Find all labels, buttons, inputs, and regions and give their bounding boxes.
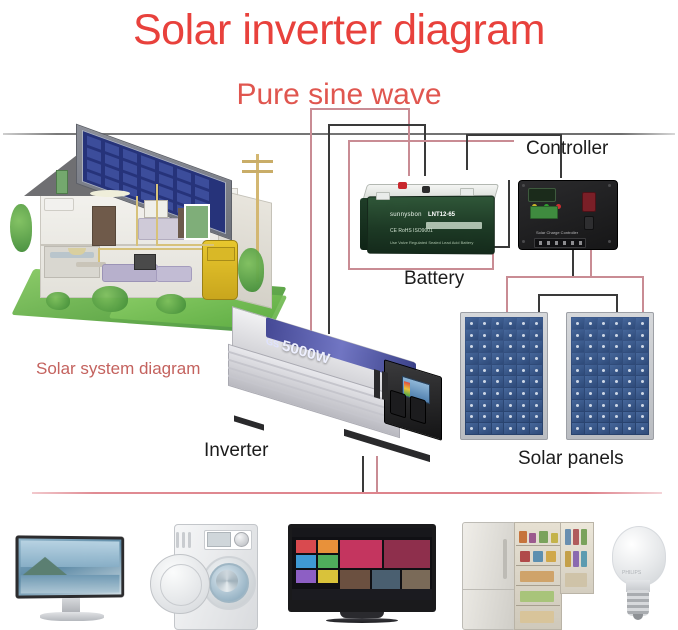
bulb-contact-tip bbox=[633, 614, 643, 620]
wire-batt-ctl-left bbox=[348, 140, 350, 268]
living-room-tv bbox=[134, 254, 156, 270]
tv-stand-base bbox=[326, 618, 398, 623]
label-battery: Battery bbox=[404, 268, 464, 290]
monitor-stand-neck bbox=[62, 598, 80, 612]
interior-door bbox=[92, 206, 116, 246]
fridge-door-split bbox=[463, 589, 515, 590]
washer-program-knob[interactable] bbox=[234, 532, 249, 547]
bottom-divider bbox=[32, 492, 662, 494]
bulb-glass-dome bbox=[612, 526, 666, 586]
page-title: Solar inverter diagram bbox=[0, 6, 678, 54]
controller-aux-port bbox=[584, 216, 594, 230]
wire-pv-bus-neg bbox=[538, 294, 618, 296]
wire-pv1-pos bbox=[506, 276, 508, 314]
ceiling-light bbox=[90, 190, 130, 197]
label-solar-panels: Solar panels bbox=[518, 448, 624, 470]
inverter-ac-socket[interactable] bbox=[390, 390, 406, 419]
gable-window bbox=[56, 170, 68, 194]
wire-inverter-pos-v bbox=[310, 108, 312, 334]
fridge-handle[interactable] bbox=[503, 539, 507, 579]
page-subtitle: Pure sine wave bbox=[0, 78, 678, 112]
appliance-led-bulb: PHILIPS bbox=[608, 522, 668, 628]
tv-menu-bar bbox=[292, 589, 432, 600]
wire-inverter-out-pos bbox=[376, 456, 378, 494]
appliance-television bbox=[288, 524, 436, 628]
wire-inverter-neg-v bbox=[328, 124, 330, 334]
appliance-refrigerator bbox=[462, 516, 592, 628]
wire-pv1-neg bbox=[538, 294, 540, 314]
battery-certification: CE RoHS ISO9001 bbox=[390, 228, 433, 234]
wire-batt-top-ctl bbox=[466, 134, 562, 136]
wire-pv-bus-pos bbox=[506, 276, 644, 278]
solar-panel bbox=[460, 312, 548, 440]
monitor-stand-base bbox=[40, 612, 104, 621]
wire-pv2-pos bbox=[642, 276, 644, 314]
bulb-screw-base bbox=[627, 590, 649, 616]
wire-batt-top-ctl-v1 bbox=[466, 134, 468, 170]
battery-unit: sunnysbon LNT12-65 CE RoHS ISO9001 Use V… bbox=[360, 168, 498, 262]
label-inverter: Inverter bbox=[204, 440, 268, 462]
bulb-brand-text: PHILIPS bbox=[622, 570, 641, 576]
battery-vent-cap bbox=[460, 188, 474, 196]
wire-ctl-pv-pos bbox=[590, 248, 592, 278]
monitor-screen bbox=[15, 535, 124, 598]
house-inverter-unit bbox=[202, 240, 238, 300]
tv-screen bbox=[292, 528, 432, 600]
controller-screw-terminals bbox=[534, 238, 586, 248]
solar-panel bbox=[566, 312, 654, 440]
air-conditioner bbox=[44, 198, 74, 211]
washer-drum bbox=[216, 570, 238, 592]
fridge-interior bbox=[514, 522, 562, 630]
washer-display bbox=[207, 532, 231, 547]
battery-spec-barcode bbox=[426, 222, 482, 229]
battery-vent-cap bbox=[376, 192, 390, 200]
tv-frame bbox=[288, 524, 436, 612]
battery-brand: sunnysbon bbox=[390, 212, 422, 218]
wire-battery-pos-drop bbox=[408, 108, 410, 176]
battery-negative-terminal bbox=[422, 186, 430, 193]
controller-usb-port bbox=[582, 192, 596, 212]
controller-brand-text: Solar Charge Controller bbox=[536, 230, 578, 235]
appliance-washing-machine bbox=[150, 518, 258, 628]
controller-terminal-block bbox=[530, 206, 558, 219]
fridge-closed-door[interactable] bbox=[462, 522, 516, 630]
controller-display bbox=[528, 188, 556, 202]
wire-pv2-neg bbox=[616, 294, 618, 314]
label-controller: Controller bbox=[526, 138, 608, 160]
wire-batt-ctl-top bbox=[348, 140, 514, 142]
wire-inverter-pos-h bbox=[310, 108, 410, 110]
solar-panel-cells bbox=[465, 317, 543, 435]
fridge-open-door[interactable] bbox=[560, 522, 594, 594]
side-window bbox=[184, 204, 210, 240]
battery-positive-terminal bbox=[398, 182, 407, 189]
appliance-row: PHILIPS bbox=[0, 500, 678, 630]
sofa-secondary bbox=[156, 266, 192, 282]
wire-ctl-pv-neg bbox=[572, 248, 574, 278]
charge-controller-unit: Solar Charge Controller bbox=[518, 180, 616, 252]
wire-inverter-neg-h bbox=[328, 124, 426, 126]
label-solar-system-diagram: Solar system diagram bbox=[36, 359, 200, 379]
monitor-wallpaper-lake bbox=[21, 575, 120, 594]
washer-open-lid[interactable] bbox=[150, 554, 210, 614]
house-illustration bbox=[6, 144, 294, 334]
appliance-monitor bbox=[16, 528, 126, 628]
wire-ctl-batt-back bbox=[508, 180, 510, 248]
wire-inverter-out-neg bbox=[362, 456, 364, 494]
inverter-ac-socket[interactable] bbox=[410, 396, 426, 425]
solar-panel-cells bbox=[571, 317, 649, 435]
battery-footer-text: Use Valve Regulated Sealed Lead Acid Bat… bbox=[390, 240, 473, 245]
monitor-wallpaper-mountain bbox=[23, 557, 67, 575]
battery-model: LNT12-65 bbox=[428, 212, 455, 218]
tv-status-bar bbox=[292, 528, 432, 537]
solar-system-diagram: Solar system diagram sunnysbon LNT12-65 … bbox=[0, 136, 678, 492]
